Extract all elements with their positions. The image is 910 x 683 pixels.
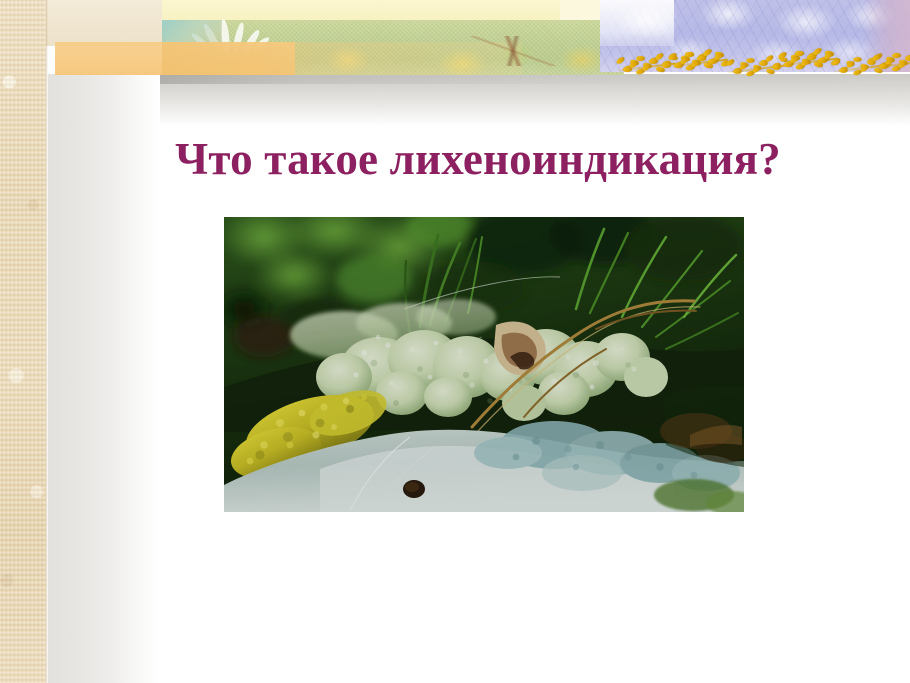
wheat-grain [615,56,625,65]
wheat-grain [733,69,742,74]
wheat-grain [635,56,644,61]
cream-block-left [46,0,162,46]
wheat-grain [654,51,664,60]
nature-collage-banner [0,0,910,92]
wheat-grain [891,53,900,58]
wheat-grain [853,57,862,62]
brown-grass-sprig [470,36,556,66]
wheat-grain [685,52,695,58]
wheat-grain [871,53,881,62]
wheat-grain [772,65,781,70]
wheat-grain [746,58,755,63]
amber-band-fade [162,42,522,75]
lichen-photo-artwork [224,217,744,512]
presentation-slide: Что такое лихеноиндикация? [0,0,910,683]
slide-title: Что такое лихеноиндикация? [46,132,910,186]
lichen-on-rock-photograph [224,217,744,512]
parchment-texture-strip [0,0,46,683]
pale-yellow-band [162,0,624,20]
golden-wheat-spray [612,44,910,82]
lavender-white-veil [600,0,674,46]
parchment-strip-edge [46,0,48,683]
wheat-grain [795,51,805,57]
wheat-grain [765,54,775,63]
wheat-grain [839,68,848,73]
